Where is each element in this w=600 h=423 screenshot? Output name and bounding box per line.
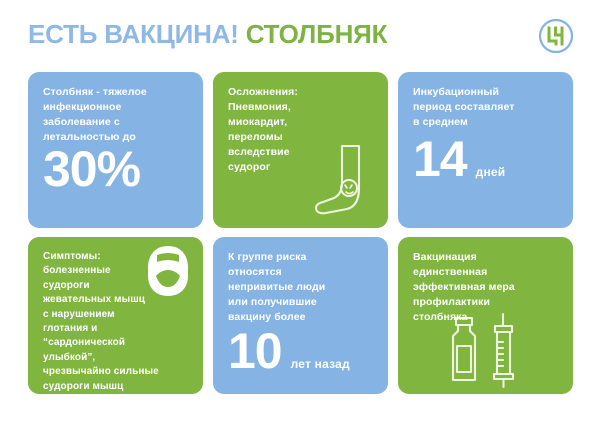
card-incubation-stat-number: 14 — [413, 137, 467, 182]
card-lethality: Столбняк - тяжелое инфекционное заболева… — [28, 72, 203, 228]
card-risk-group-stat-unit: лет назад — [291, 357, 350, 371]
fact-card-grid: Столбняк - тяжелое инфекционное заболева… — [28, 72, 574, 394]
card-lethality-stat: 30% — [43, 147, 140, 192]
page-title: ЕСТЬ ВАКЦИНА! СТОЛБНЯК — [28, 21, 387, 47]
card-symptoms: Симптомы: болезненные судороги жевательн… — [28, 237, 203, 394]
card-risk-group-stat-number: 10 — [228, 329, 282, 374]
page-header: ЕСТЬ ВАКЦИНА! СТОЛБНЯК — [0, 0, 600, 68]
card-incubation-text: Инкубационный период составляет в средне… — [413, 85, 559, 130]
card-risk-group-text: К группе риска относятся непривитые люди… — [228, 250, 374, 325]
card-symptoms-text: Симптомы: болезненные судороги жевательн… — [43, 250, 189, 394]
card-prevention: Вакцинация единственная эффективная мера… — [398, 237, 573, 394]
card-incubation: Инкубационный период составляет в средне… — [398, 72, 573, 228]
card-lethality-text: Столбняк - тяжелое инфекционное заболева… — [43, 85, 189, 145]
card-prevention-text: Вакцинация единственная эффективная мера… — [413, 250, 559, 325]
clinic-monogram-logo-icon — [538, 18, 574, 54]
title-part-tetanus: СТОЛБНЯК — [246, 19, 388, 49]
card-complications-text: Осложнения: Пневмония, миокардит, перело… — [228, 85, 374, 174]
card-risk-group-stat: 10 лет назад — [228, 329, 350, 374]
card-risk-group: К группе риска относятся непривитые люди… — [213, 237, 388, 394]
card-incubation-stat-unit: дней — [476, 165, 506, 179]
title-part-vaccine-exists: ЕСТЬ ВАКЦИНА! — [28, 19, 239, 49]
card-incubation-stat: 14 дней — [413, 137, 505, 182]
card-complications: Осложнения: Пневмония, миокардит, перело… — [213, 72, 388, 228]
card-lethality-stat-number: 30% — [43, 147, 140, 192]
